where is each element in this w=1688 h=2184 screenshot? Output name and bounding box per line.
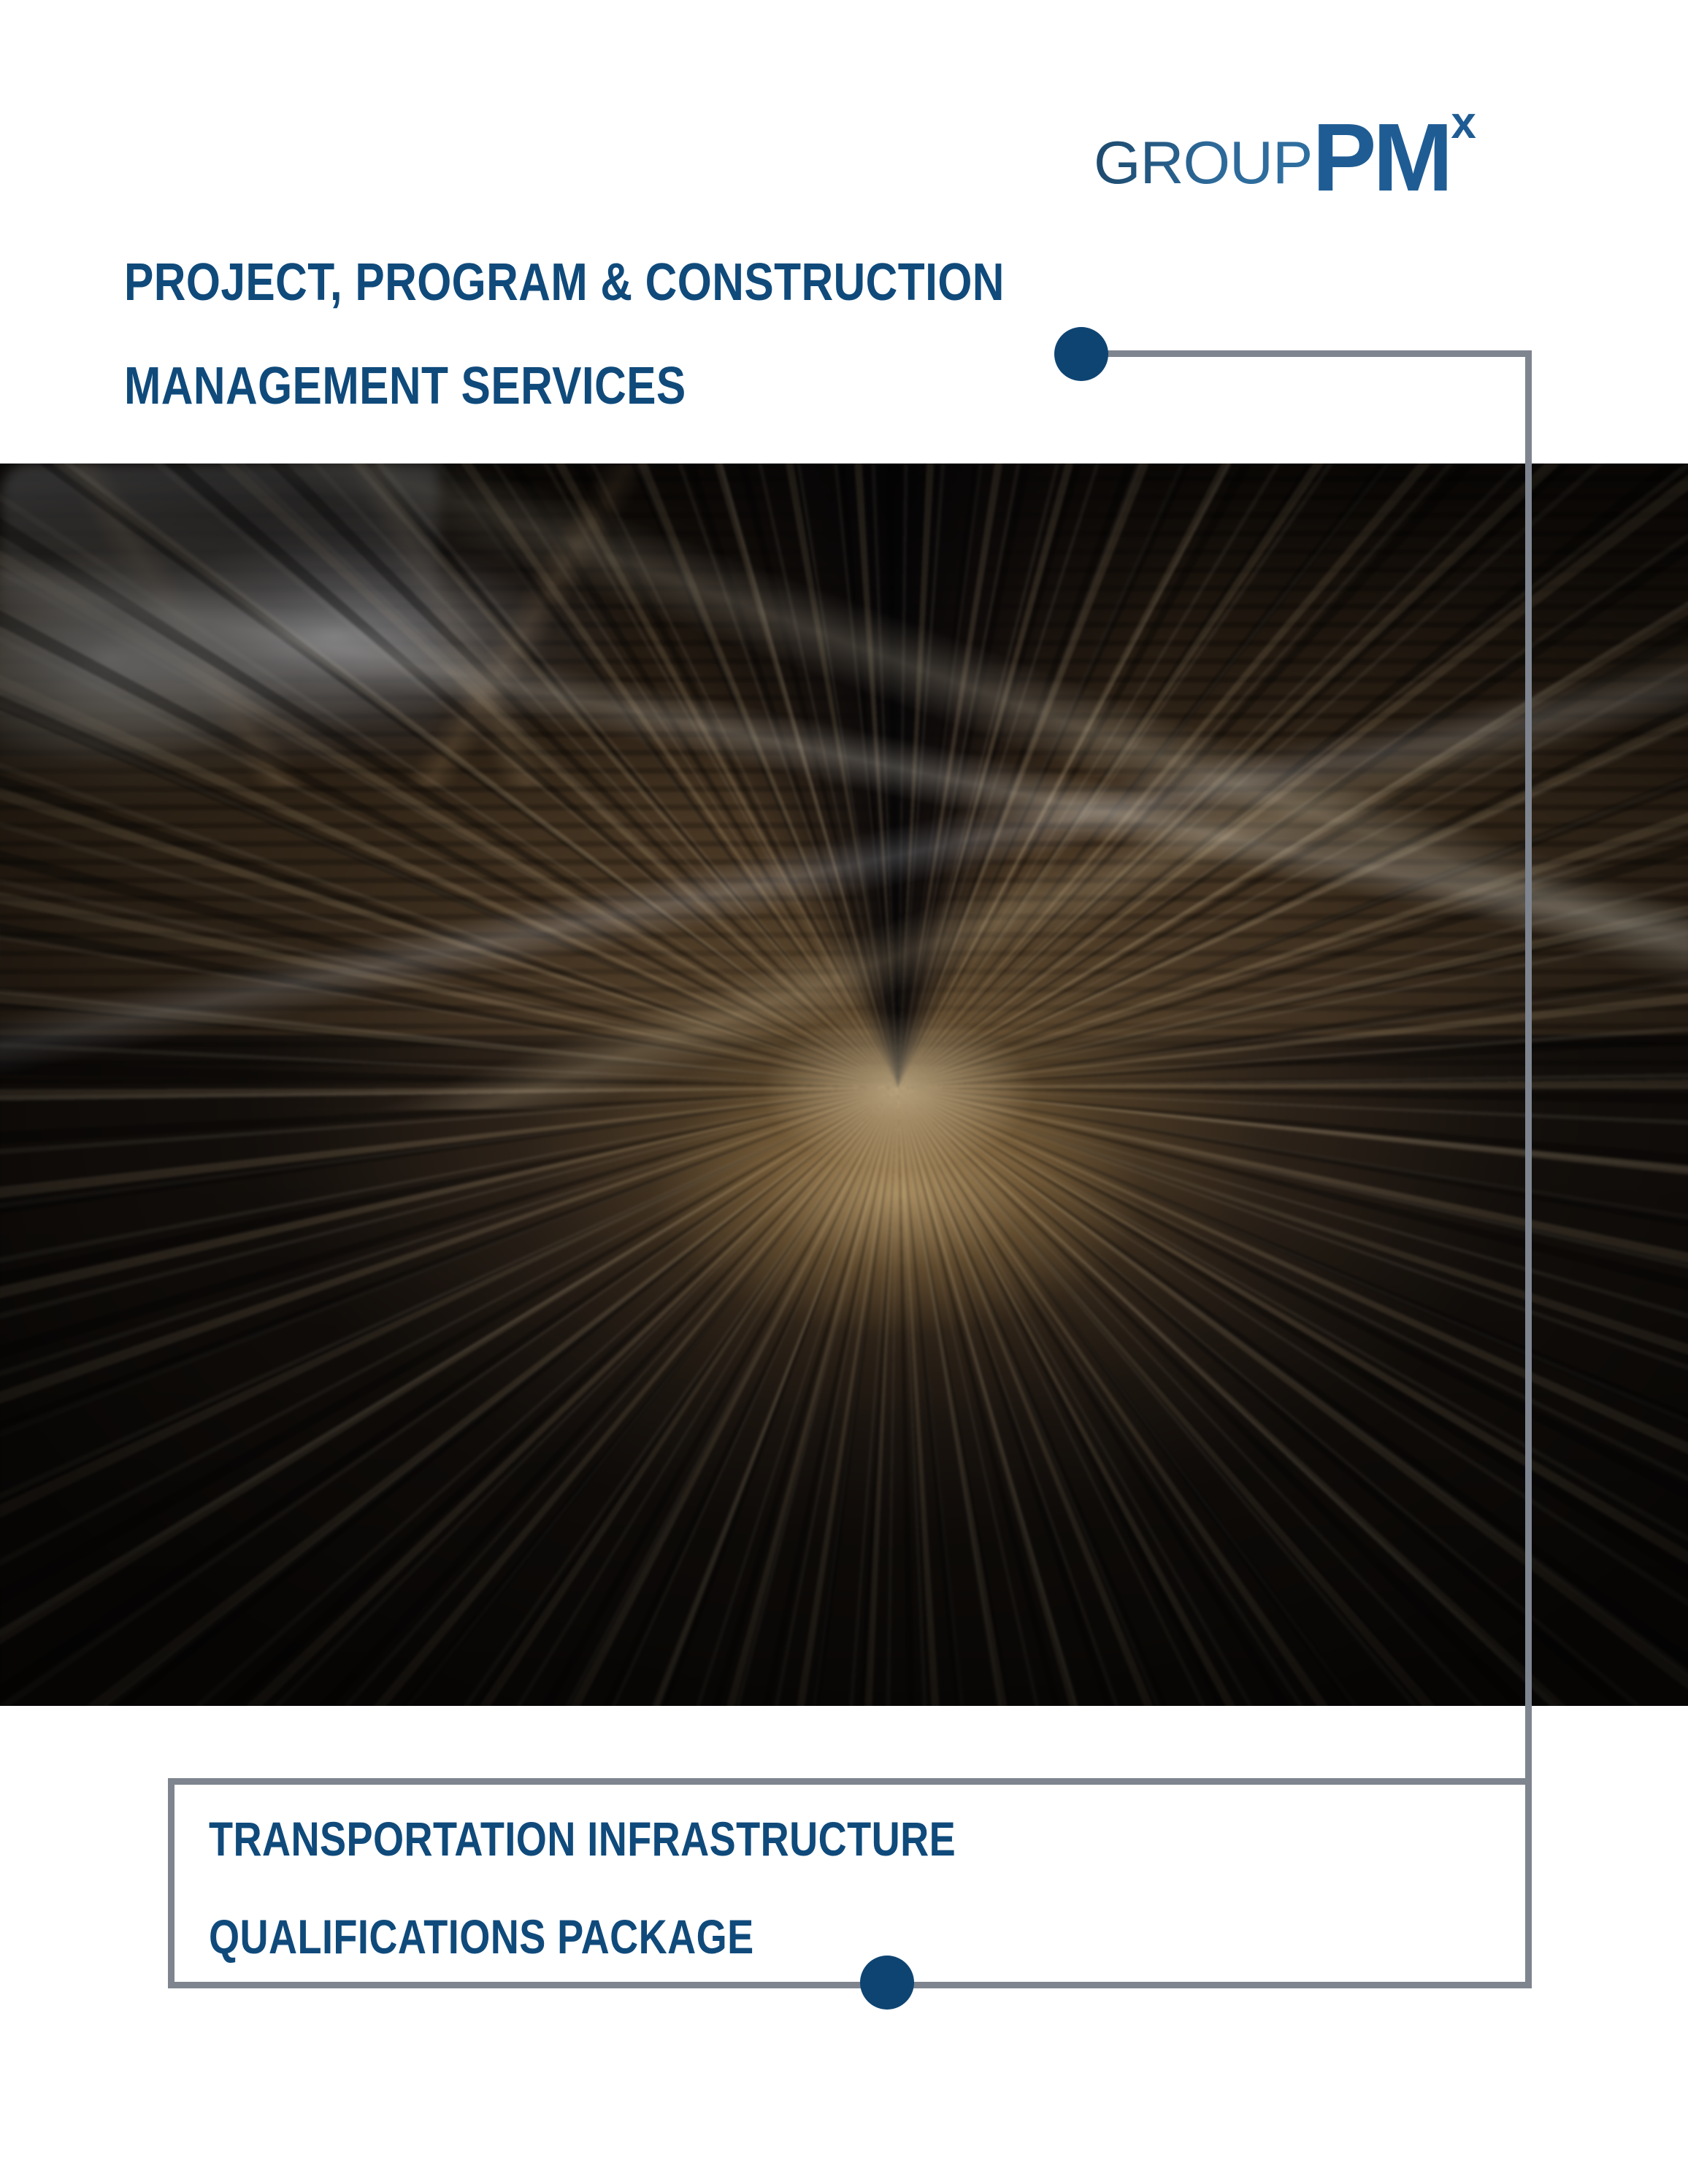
document-subtitle: TRANSPORTATION INFRASTRUCTURE QUALIFICAT… [209,1790,1304,1985]
page-title: PROJECT, PROGRAM & CONSTRUCTION MANAGEME… [124,231,1044,438]
hero-image-railway-motion-blur [0,464,1688,1706]
document-subtitle-line-2: QUALIFICATIONS PACKAGE [209,1888,1107,1985]
logo-superscript-x: x [1451,101,1476,146]
group-pmx-logo: GROUPPMx [1094,102,1475,197]
logo-pm-text: PM [1312,109,1449,206]
logo-group-text: GROUP [1094,132,1312,193]
bottom-title-frame-right-open [1532,1778,1561,1975]
document-subtitle-line-1: TRANSPORTATION INFRASTRUCTURE [209,1790,1107,1888]
cover-page: GROUPPMx PROJECT, PROGRAM & CONSTRUCTION… [0,0,1688,2184]
page-title-line-2: MANAGEMENT SERVICES [124,334,897,438]
connector-line-horizontal-top [1094,350,1532,357]
connector-dot-top [1054,327,1108,381]
connector-line-vertical-right [1525,350,1532,1784]
page-title-line-1: PROJECT, PROGRAM & CONSTRUCTION [124,231,897,334]
hero-image-blur-pass [0,464,1688,1706]
